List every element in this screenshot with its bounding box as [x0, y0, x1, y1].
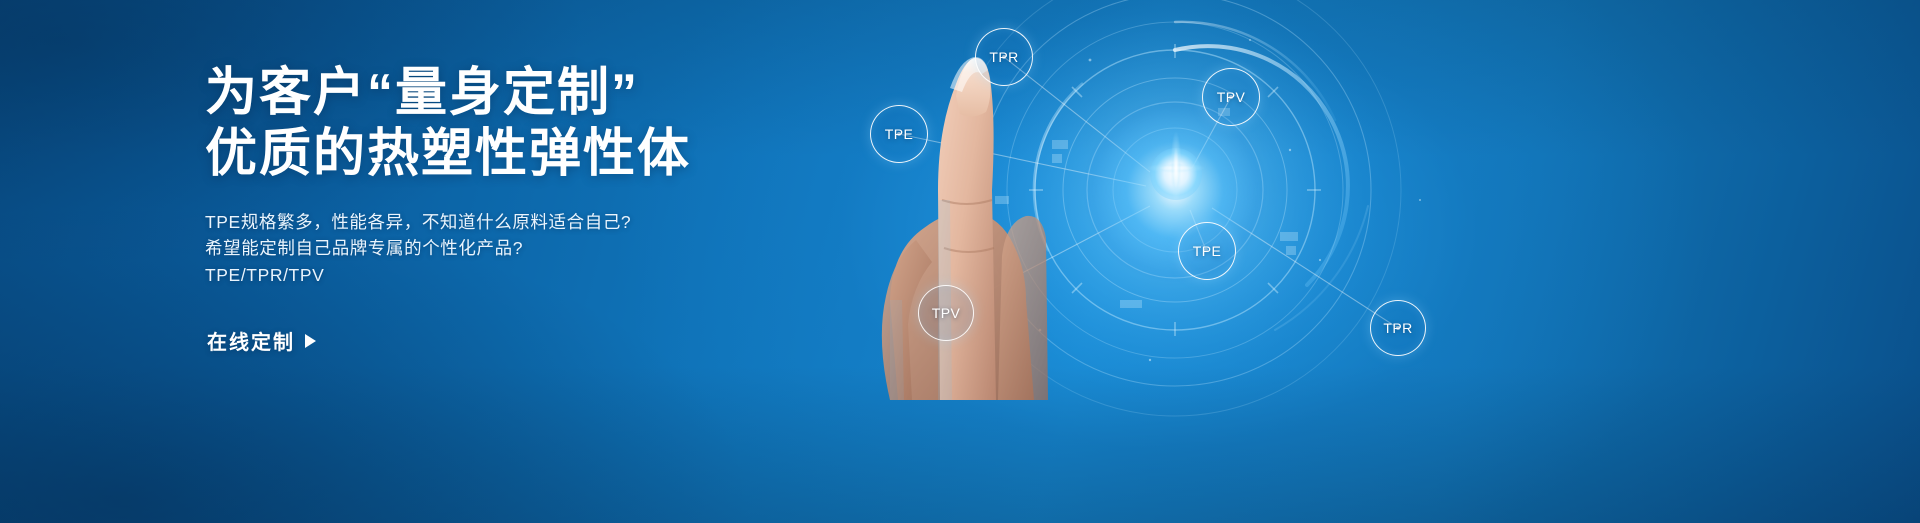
node-label: TPV [1217, 89, 1245, 105]
node-label: TPR [989, 49, 1018, 65]
node-bubble-tpr-lower-right[interactable]: TPR [1370, 300, 1426, 356]
hero-banner: TPR TPV TPE TPE TPV TPR 为客户“量身定制” 优质的热塑性… [0, 0, 1920, 523]
play-arrow-icon [305, 334, 316, 348]
cta-label: 在线定制 [207, 326, 295, 355]
banner-subtext: TPE规格繁多，性能各异，不知道什么原料适合自己? 希望能定制自己品牌专属的个性… [205, 209, 945, 289]
node-label: TPR [1383, 320, 1412, 336]
subtext-line-2: 希望能定制自己品牌专属的个性化产品? [205, 235, 945, 262]
banner-copy: 为客户“量身定制” 优质的热塑性弹性体 TPE规格繁多，性能各异，不知道什么原料… [205, 64, 945, 359]
online-customization-button[interactable]: 在线定制 [205, 322, 318, 359]
tech-circle-graphic: TPR TPV TPE TPE TPV TPR [820, 0, 1920, 523]
subtext-line-3: TPE/TPR/TPV [205, 262, 945, 289]
node-bubble-tpe-right[interactable]: TPE [1178, 222, 1236, 280]
node-label: TPE [1193, 243, 1221, 259]
subtext-line-1: TPE规格繁多，性能各异，不知道什么原料适合自己? [205, 209, 945, 236]
headline-line-1: 为客户“量身定制” [205, 64, 945, 123]
node-bubble-tpv-upper-right[interactable]: TPV [1202, 68, 1260, 126]
node-bubble-tpr-top[interactable]: TPR [975, 28, 1033, 86]
headline-line-2: 优质的热塑性弹性体 [205, 125, 945, 184]
